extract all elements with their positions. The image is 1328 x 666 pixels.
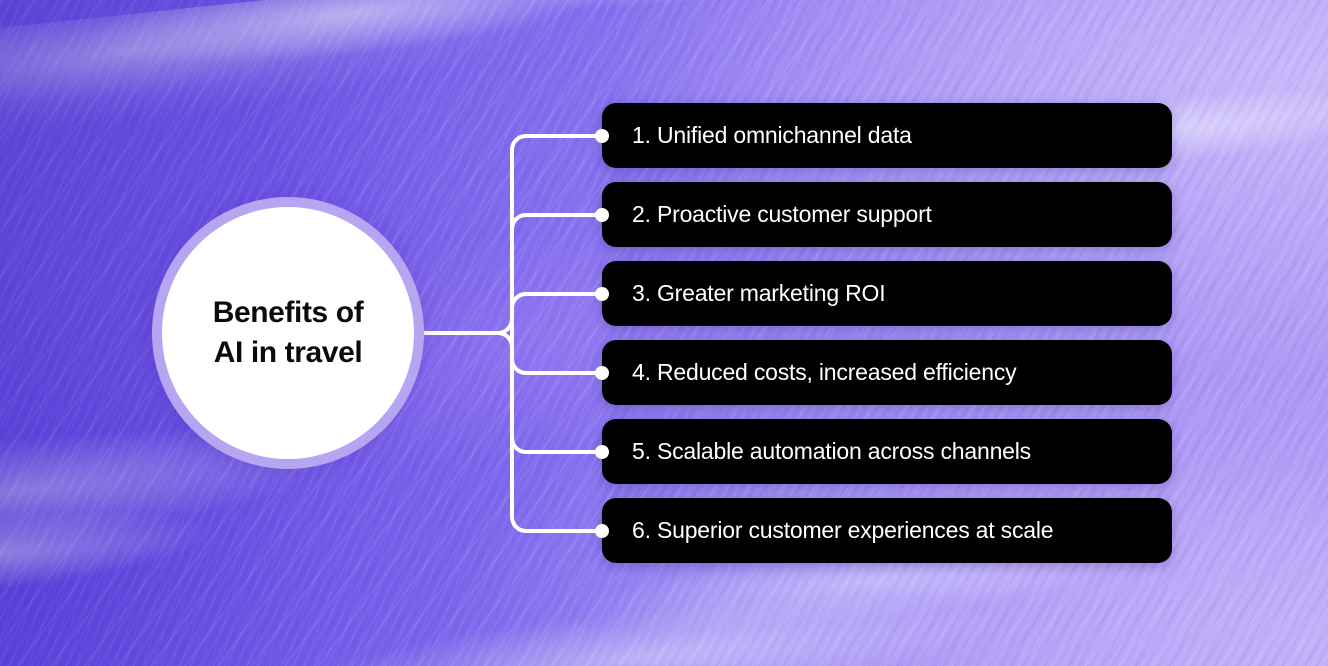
benefit-card-6[interactable]: 6. Superior customer experiences at scal… [602, 498, 1172, 563]
connector-hub-join [498, 319, 512, 333]
benefit-label-4: 4. Reduced costs, increased efficiency [602, 359, 1016, 386]
hub-circle-inner: Benefits of AI in travel [162, 207, 414, 459]
page-title: Benefits of AI in travel [195, 293, 382, 373]
connector-dot-5 [595, 445, 609, 459]
benefit-label-6: 6. Superior customer experiences at scal… [602, 517, 1053, 544]
benefit-card-2[interactable]: 2. Proactive customer support [602, 182, 1172, 247]
infographic-root: Benefits of AI in travel 1. Unified omni… [0, 0, 1328, 666]
connector-branch-6 [512, 517, 602, 531]
benefit-card-5[interactable]: 5. Scalable automation across channels [602, 419, 1172, 484]
connector-dot-1 [595, 129, 609, 143]
benefit-card-1[interactable]: 1. Unified omnichannel data [602, 103, 1172, 168]
connector-dot-3 [595, 287, 609, 301]
connector-branch-4 [512, 359, 602, 373]
benefit-card-4[interactable]: 4. Reduced costs, increased efficiency [602, 340, 1172, 405]
connector-branch-2 [512, 215, 602, 229]
connector-dot-6 [595, 524, 609, 538]
benefits-list: 1. Unified omnichannel data 2. Proactive… [602, 103, 1172, 563]
hub-circle: Benefits of AI in travel [152, 197, 424, 469]
connector-hub-join-lower [498, 333, 512, 347]
connector-dot-2 [595, 208, 609, 222]
benefit-card-3[interactable]: 3. Greater marketing ROI [602, 261, 1172, 326]
benefit-label-3: 3. Greater marketing ROI [602, 280, 885, 307]
connector-branch-1 [512, 136, 602, 150]
benefit-label-2: 2. Proactive customer support [602, 201, 932, 228]
benefit-label-5: 5. Scalable automation across channels [602, 438, 1031, 465]
connector-branch-5 [512, 438, 602, 452]
benefit-label-1: 1. Unified omnichannel data [602, 122, 912, 149]
connector-branch-3 [512, 294, 602, 308]
connector-dot-4 [595, 366, 609, 380]
